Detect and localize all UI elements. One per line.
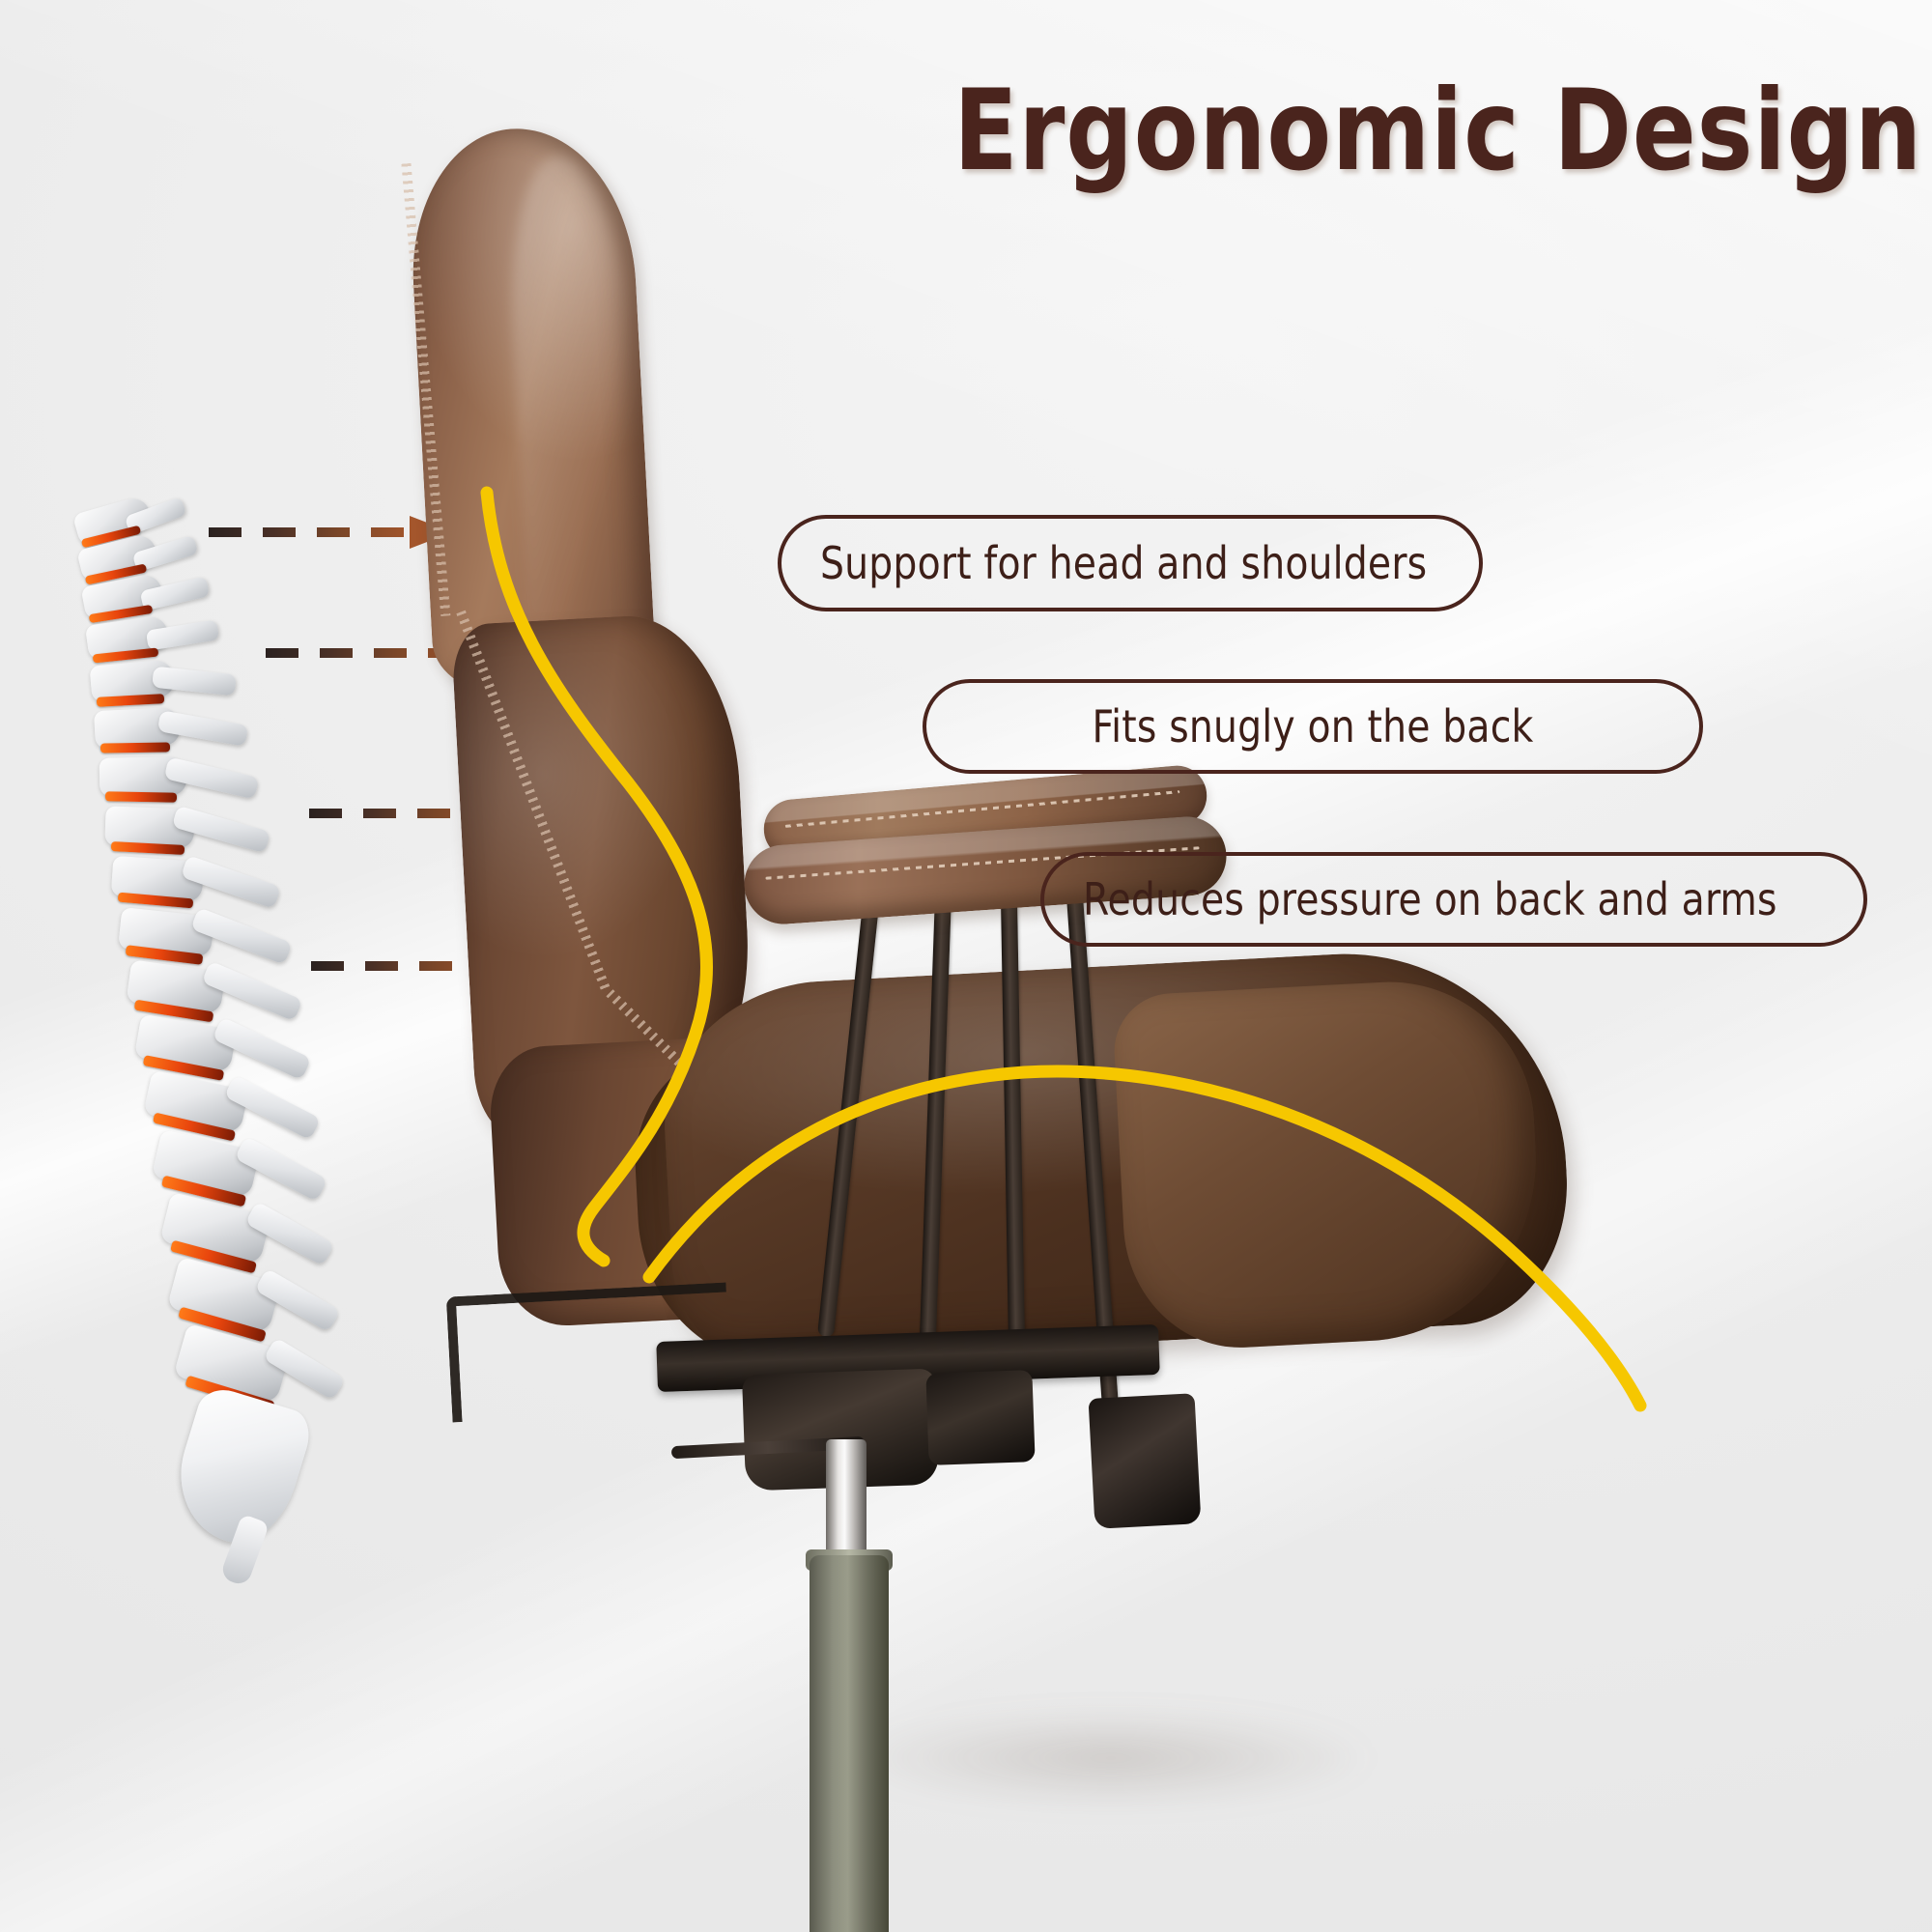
gas-cylinder-cover [810,1555,889,1932]
spine-illustration [58,512,280,1565]
callout-label: Fits snugly on the back [977,700,1648,753]
armrest-bracket [1089,1393,1202,1529]
callout-support-head-shoulders[interactable]: Support for head and shoulders [778,515,1483,611]
tilt-mechanism-housing [925,1370,1035,1465]
callout-fits-snugly-back[interactable]: Fits snugly on the back [923,679,1703,774]
office-chair-illustration [425,116,1826,1932]
callout-reduces-pressure[interactable]: Reduces pressure on back and arms [1040,852,1867,947]
infographic-canvas: Ergonomic Design [0,0,1932,1932]
callout-label: Support for head and shoulders [820,537,1409,589]
callout-label: Reduces pressure on back and arms [1083,873,1788,925]
